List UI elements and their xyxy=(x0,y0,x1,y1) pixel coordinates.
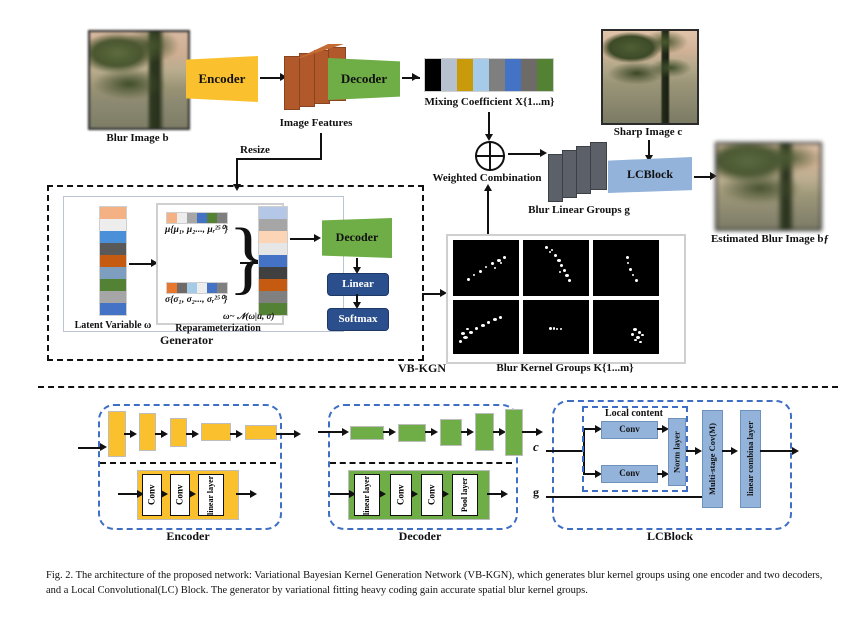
arrowhead-kernels-to-plus xyxy=(484,184,492,191)
lcblock-multistage-conv: Multi-stage Cov(M) xyxy=(702,410,723,508)
resize-line-vertical-a xyxy=(320,133,322,159)
lcblock-output-arrow xyxy=(760,450,796,452)
mixing-coefficient-bar xyxy=(424,58,554,92)
encoder-detail-title: Encoder xyxy=(128,530,248,543)
image-features-label: Image Features xyxy=(268,117,364,129)
lcblock-multistage-to-combine-arrowhead xyxy=(731,447,738,455)
sigma-formula: σ{σ₁, σ₂..., σᵣ²⁵⁰} xyxy=(165,295,227,305)
decoder-inner-pool-layer: Pool layer xyxy=(452,474,478,516)
mixing-seg-0 xyxy=(425,59,441,91)
encoder-stage-block-3 xyxy=(170,418,187,447)
out-seg-6 xyxy=(259,279,287,291)
resize-line-horizontal xyxy=(236,158,322,160)
decoder-inner-linear-layer-label: linear layer xyxy=(363,475,371,514)
encoder-inner-conv-2-label: Conv xyxy=(175,485,184,506)
mu-seg-5 xyxy=(217,213,227,223)
mu-seg-4 xyxy=(207,213,217,223)
lcblock-detail-title: LCBlock xyxy=(610,530,730,543)
decoder-inner-linear-layer: linear layer xyxy=(354,474,380,516)
sharp-image-label: Sharp Image c xyxy=(598,126,698,138)
kernel-tile-3 xyxy=(593,240,659,296)
encoder-inner-linear-layer-label: linear layer xyxy=(207,475,215,514)
arrowhead-reparam-to-decoder xyxy=(314,234,321,242)
resize-label: Resize xyxy=(240,144,270,156)
section-divider xyxy=(38,386,838,388)
arrow-kernels-to-plus xyxy=(487,190,489,234)
out-seg-2 xyxy=(259,231,287,243)
sigma-seg-4 xyxy=(207,283,217,293)
figure-caption: Fig. 2. The architecture of the proposed… xyxy=(46,568,836,598)
encoder-detail-input-arrowhead xyxy=(100,443,107,451)
lcblock-input-g-label: g xyxy=(533,486,539,499)
decoder-detail-output-arrowhead xyxy=(536,428,543,436)
lcblock-norm-layer-label: Norm layer xyxy=(673,431,682,473)
encoder-stage-block-4 xyxy=(201,423,231,441)
encoder-inner-output-arrowhead xyxy=(250,490,257,498)
mu-formula: μ{μ₁, μ₂..., μᵣ²⁵⁰} xyxy=(165,225,228,235)
encoder-detail-input-arrow xyxy=(78,447,102,449)
arrowhead-decoder-to-mixing xyxy=(412,73,419,81)
kernel-tile-2 xyxy=(523,240,589,296)
mixing-seg-2 xyxy=(457,59,473,91)
generator-decoder-block: Decoder xyxy=(322,218,392,258)
encoder-stage-block-5 xyxy=(245,425,277,440)
linear-block-label: Linear xyxy=(342,279,374,291)
mu-seg-1 xyxy=(177,213,187,223)
decoder-stage-arrowhead-3 xyxy=(467,428,474,436)
decoder-inner-output-arrowhead xyxy=(501,490,508,498)
lcblock-conv-top: Conv xyxy=(601,421,658,439)
sigma-bar xyxy=(166,282,228,294)
arrow-reparam-to-decoder xyxy=(290,238,316,240)
encoder-stage-arrowhead-4 xyxy=(236,430,243,438)
softmax-block: Softmax xyxy=(327,308,389,331)
mu-seg-0 xyxy=(167,213,177,223)
decoder-inner-pool-layer-label: Pool layer xyxy=(461,478,469,512)
figure-canvas: Blur Image b Encoder Image Features Resi… xyxy=(0,0,865,621)
sigma-seg-3 xyxy=(197,283,207,293)
decoder-stage-block-4 xyxy=(475,413,494,451)
latent-seg-7 xyxy=(100,291,126,303)
linear-block: Linear xyxy=(327,273,389,296)
omega-formula: ω~ 𝒩(ω|u, σ) xyxy=(223,312,274,322)
latent-seg-3 xyxy=(100,243,126,255)
sigma-seg-2 xyxy=(187,283,197,293)
mixing-seg-6 xyxy=(521,59,537,91)
generator-label: Generator xyxy=(160,334,213,347)
decoder-stage-block-5 xyxy=(505,409,523,456)
blur-image-photo xyxy=(88,30,190,130)
encoder-detail-inner-divider xyxy=(100,462,276,464)
mixing-seg-3 xyxy=(473,59,489,91)
encoder-block-label: Encoder xyxy=(199,72,246,86)
out-seg-1 xyxy=(259,219,287,231)
decoder-detail-input-arrow xyxy=(318,431,344,433)
latent-seg-5 xyxy=(100,267,126,279)
blur-linear-groups-stack xyxy=(548,140,608,202)
lcblock-input-c-label: c xyxy=(533,440,539,454)
latent-variable-label: Latent Variable ω xyxy=(62,320,164,331)
lcblock-conv-top-label: Conv xyxy=(619,425,640,434)
encoder-detail-output-arrowhead xyxy=(294,430,301,438)
out-seg-5 xyxy=(259,267,287,279)
kernel-tile-6 xyxy=(593,300,659,354)
kernel-tile-4 xyxy=(453,300,519,354)
generator-decoder-label: Decoder xyxy=(336,231,379,244)
decoder-inner-arrowhead-3 xyxy=(442,490,449,498)
decoder-inner-conv-1-label: Conv xyxy=(396,485,405,506)
mixing-seg-1 xyxy=(441,59,457,91)
blur-linear-groups-label: Blur Linear Groups g xyxy=(489,204,669,216)
arrow-plus-to-linear-groups xyxy=(508,153,542,155)
encoder-stage-arrowhead-3 xyxy=(192,430,199,438)
lcblock-linear-combine-layer-label: linear combina layer xyxy=(746,422,755,497)
arrowhead-mixing-to-plus xyxy=(485,134,493,141)
decoder-block-top-label: Decoder xyxy=(341,72,387,86)
out-seg-7 xyxy=(259,291,287,303)
estimated-blur-image-photo xyxy=(715,142,822,231)
encoder-inner-arrowhead-2 xyxy=(189,490,196,498)
decoder-stage-block-1 xyxy=(350,426,384,440)
mu-seg-3 xyxy=(197,213,207,223)
lcblock-conv-bottom: Conv xyxy=(601,465,658,483)
arrow-encoder-to-features xyxy=(260,77,282,79)
lcblock-block-label: LCBlock xyxy=(627,168,673,181)
brace-to-output-line xyxy=(240,262,258,264)
out-seg-3 xyxy=(259,243,287,255)
encoder-stage-block-2 xyxy=(139,413,156,451)
decoder-block-top: Decoder xyxy=(328,58,400,100)
encoder-inner-conv-1-label: Conv xyxy=(147,485,156,506)
mixing-coefficient-label: Mixing Coefficient X{1...m} xyxy=(417,96,562,108)
mu-seg-2 xyxy=(187,213,197,223)
kernel-tile-1 xyxy=(453,240,519,296)
lcblock-output-arrowhead xyxy=(792,447,799,455)
decoder-detail-inner-divider xyxy=(330,462,512,464)
decoder-stage-block-3 xyxy=(440,419,462,446)
decoder-inner-arrowhead-1 xyxy=(379,490,386,498)
vbkgn-label: VB-KGN xyxy=(398,362,446,375)
blur-kernel-groups-label: Blur Kernel Groups K{1...m} xyxy=(465,362,665,374)
lcblock-norm-to-multistage-arrowhead xyxy=(695,447,702,455)
latent-seg-8 xyxy=(100,303,126,315)
arrow-latent-to-reparam xyxy=(129,263,153,265)
latent-seg-1 xyxy=(100,219,126,231)
estimated-blur-image-label: Estimated Blur Image bƒ xyxy=(700,233,840,245)
latent-seg-2 xyxy=(100,231,126,243)
softmax-block-label: Softmax xyxy=(338,314,377,326)
latent-seg-6 xyxy=(100,279,126,291)
mixing-seg-5 xyxy=(505,59,521,91)
encoder-inner-linear-layer: linear layer xyxy=(198,474,224,516)
mixing-seg-4 xyxy=(489,59,505,91)
lcblock-norm-layer: Norm layer xyxy=(668,418,686,486)
mu-bar xyxy=(166,212,228,224)
decoder-detail-title: Decoder xyxy=(360,530,480,543)
local-content-label: Local content xyxy=(589,408,679,419)
decoder-stage-arrowhead-1 xyxy=(389,428,396,436)
arrowhead-plus-to-linear-groups xyxy=(540,149,547,157)
resize-line-vertical-b xyxy=(236,158,238,186)
latent-seg-4 xyxy=(100,255,126,267)
lcblock-g-line xyxy=(546,496,704,498)
encoder-stage-arrow-1 xyxy=(124,433,132,435)
sharp-image-photo xyxy=(601,29,699,125)
sigma-seg-1 xyxy=(177,283,187,293)
mixing-seg-7 xyxy=(537,59,553,91)
decoder-stage-arrowhead-2 xyxy=(431,428,438,436)
encoder-inner-conv-1: Conv xyxy=(142,474,162,516)
decoder-inner-conv-1: Conv xyxy=(390,474,412,516)
decoder-inner-conv-2-label: Conv xyxy=(427,485,436,506)
lcblock-multistage-conv-label: Multi-stage Cov(M) xyxy=(708,423,717,495)
lcblock-conv-bottom-label: Conv xyxy=(619,469,640,478)
kernel-tile-5 xyxy=(523,300,589,354)
reparameterization-label: Reparameterization xyxy=(152,323,284,334)
decoder-detail-input-arrowhead xyxy=(342,428,349,436)
out-seg-0 xyxy=(259,207,287,219)
lcblock-block: LCBlock xyxy=(608,157,692,193)
encoder-inner-arrowhead-1 xyxy=(161,490,168,498)
sigma-seg-0 xyxy=(167,283,177,293)
encoder-stage-arrowhead-2 xyxy=(161,430,168,438)
encoder-block: Encoder xyxy=(186,56,258,102)
decoder-inner-arrowhead-2 xyxy=(411,490,418,498)
latent-variable-bar xyxy=(99,206,127,316)
sigma-seg-5 xyxy=(217,283,227,293)
blur-image-label: Blur Image b xyxy=(85,132,190,144)
out-seg-4 xyxy=(259,255,287,267)
encoder-inner-conv-2: Conv xyxy=(170,474,190,516)
weighted-combination-operator xyxy=(475,141,505,171)
lcblock-c-line xyxy=(546,450,584,452)
decoder-inner-conv-2: Conv xyxy=(421,474,443,516)
decoder-stage-block-2 xyxy=(398,424,426,442)
latent-seg-0 xyxy=(100,207,126,219)
lcblock-linear-combine-layer: linear combina layer xyxy=(740,410,761,508)
reparam-output-bar xyxy=(258,206,288,316)
